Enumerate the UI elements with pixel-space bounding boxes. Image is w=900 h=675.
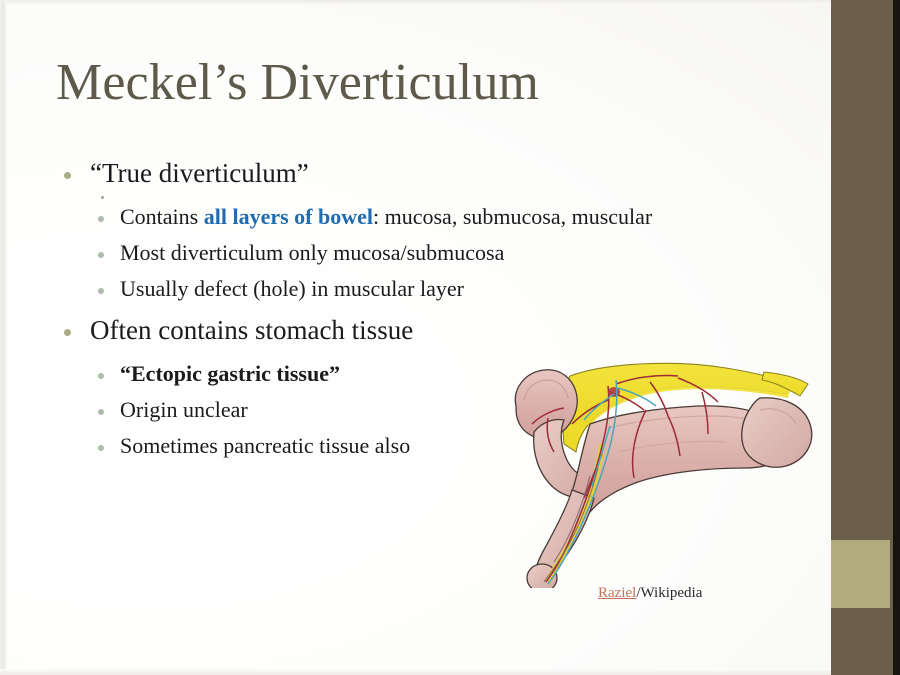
bullet-text-emphasis: “Ectopic gastric tissue” (120, 361, 340, 386)
credit-source: /Wikipedia (636, 585, 702, 601)
bullet-ectopic-gastric: “Ectopic gastric tissue” (56, 363, 340, 385)
bullet-text-emphasis: all layers of bowel (204, 204, 373, 229)
bullet-contains-all-layers: Contains all layers of bowel: mucosa, su… (56, 206, 652, 228)
credit-link[interactable]: Raziel (598, 585, 636, 601)
image-credit: Raziel/Wikipedia (598, 585, 702, 602)
bullet-text: Often contains stomach tissue (90, 315, 413, 345)
bullet-dot-icon (98, 252, 104, 258)
bullet-text: Sometimes pancreatic tissue also (120, 433, 410, 458)
slide-side-band-edge (893, 0, 900, 675)
bullet-dot-icon (98, 373, 104, 379)
bullet-true-diverticulum: “True diverticulum” (56, 160, 309, 187)
bullet-dot-icon (98, 409, 104, 415)
bullet-text: “True diverticulum” (90, 158, 309, 188)
presentation-slide-screenshot: Meckel’s Diverticulum “True diverticulum… (0, 0, 900, 675)
bullet-dot-icon (98, 445, 104, 451)
bullet-usually-defect: Usually defect (hole) in muscular layer (56, 278, 464, 300)
slide-title: Meckel’s Diverticulum (56, 55, 539, 111)
slide-side-band-accent (831, 540, 890, 608)
stray-mark-artifact (101, 196, 104, 199)
slide-edge-bottom (0, 669, 831, 675)
bullet-sometimes-pancreatic: Sometimes pancreatic tissue also (56, 435, 410, 457)
bullet-dot-icon (64, 172, 71, 179)
bullet-text-suffix: : mucosa, submucosa, muscular (373, 204, 652, 229)
bowel-right-end (742, 398, 812, 467)
bullet-most-diverticulum: Most diverticulum only mucosa/submucosa (56, 242, 504, 264)
slide-canvas: Meckel’s Diverticulum “True diverticulum… (0, 0, 831, 675)
bullet-text: Most diverticulum only mucosa/submucosa (120, 240, 504, 265)
bullet-text-prefix: Contains (120, 204, 204, 229)
bullet-dot-icon (64, 329, 71, 336)
meckels-diverticulum-illustration (498, 348, 828, 588)
bullet-often-contains-stomach: Often contains stomach tissue (56, 317, 413, 344)
bullet-dot-icon (98, 288, 104, 294)
bullet-text: Origin unclear (120, 397, 248, 422)
bullet-text: Usually defect (hole) in muscular layer (120, 276, 464, 301)
slide-edge-top (0, 0, 831, 5)
bullet-dot-icon (98, 216, 104, 222)
slide-edge-left (0, 0, 7, 675)
bullet-origin-unclear: Origin unclear (56, 399, 248, 421)
